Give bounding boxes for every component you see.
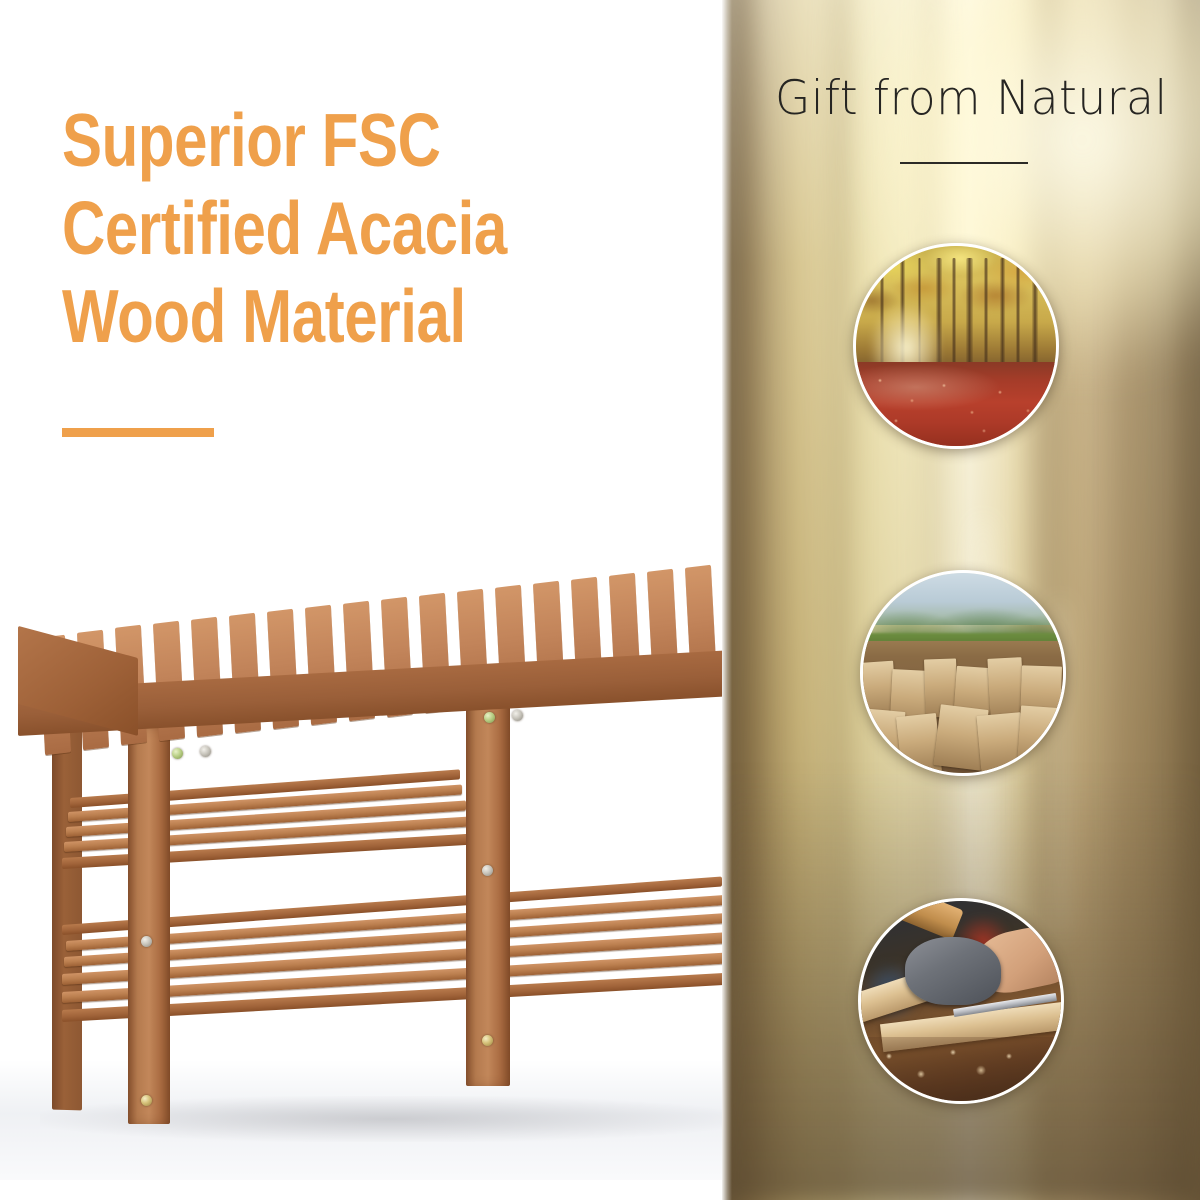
- screw-leg-mid-low: [482, 1035, 493, 1046]
- acacia-wood-shoe-bench-photo: [0, 540, 830, 1180]
- screw-leg-left-low: [141, 1095, 152, 1106]
- headline-line-2: Certified Acacia: [62, 184, 574, 272]
- left-white-panel: Superior FSC Certified Acacia Wood Mater…: [0, 0, 722, 1200]
- right-panel-title: Gift from Natural: [775, 72, 1182, 126]
- screw-seat-left-1: [172, 748, 183, 759]
- screw-seat-mid-2: [512, 710, 523, 721]
- autumn-forest-photo: [853, 243, 1059, 449]
- bench-leg-back-left: [52, 718, 82, 1111]
- headline-line-3: Wood Material: [62, 272, 574, 360]
- screw-seat-left-2: [200, 746, 211, 757]
- timber-stack: [863, 641, 1063, 773]
- woodworking-hands-photo: [858, 898, 1064, 1104]
- screw-leg-mid-up: [482, 865, 493, 876]
- panel-left-edge-fade: [722, 0, 732, 1200]
- headline-line-1: Superior FSC: [62, 96, 574, 184]
- work-glove: [905, 937, 1001, 1005]
- right-photo-panel: Gift from Natural: [722, 0, 1200, 1200]
- headline-underline-rule: [62, 428, 214, 437]
- bench-leg-front-left: [128, 728, 170, 1124]
- screw-seat-mid-1: [484, 712, 495, 723]
- screw-leg-left-mid: [141, 936, 152, 947]
- right-title-rule: [900, 162, 1028, 164]
- wood-shavings: [861, 1037, 1061, 1101]
- headline-block: Superior FSC Certified Acacia Wood Mater…: [62, 96, 702, 360]
- product-marketing-banner: Superior FSC Certified Acacia Wood Mater…: [0, 0, 1200, 1200]
- stacked-timber-photo: [860, 570, 1066, 776]
- bench-leg-front-mid: [466, 690, 510, 1086]
